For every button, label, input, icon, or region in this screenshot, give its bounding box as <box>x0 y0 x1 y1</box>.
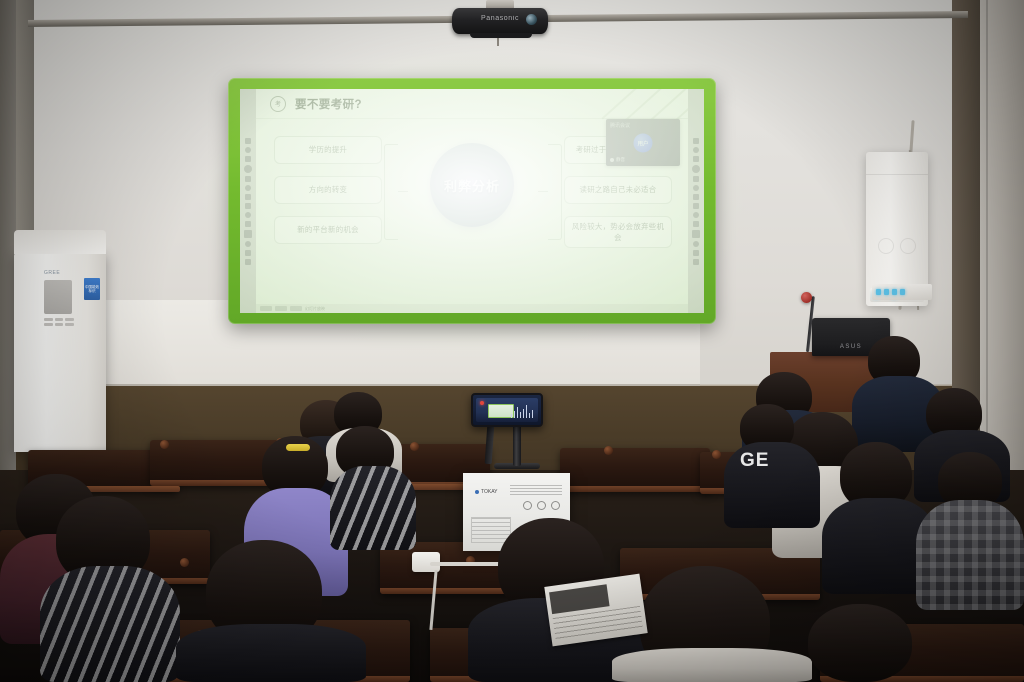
torso <box>40 566 180 682</box>
tool-icon[interactable] <box>245 138 251 144</box>
slide-title: 要不要考研? <box>295 96 362 112</box>
ac-button[interactable] <box>44 318 53 321</box>
umbrella-icon <box>537 501 546 510</box>
energy-label: 中国能效标识 <box>84 278 100 300</box>
pros-item: 学历的提升 <box>274 136 382 164</box>
tool-icon[interactable] <box>693 194 699 200</box>
ac-button[interactable] <box>44 323 53 326</box>
tool-icon[interactable] <box>245 176 251 182</box>
tool-icon[interactable] <box>693 250 699 256</box>
jacket-text: GE <box>740 450 769 472</box>
control-led-icon <box>900 289 905 295</box>
tool-icon[interactable] <box>245 147 251 153</box>
tool-icon[interactable] <box>693 203 699 209</box>
projector-lens-icon <box>526 14 537 25</box>
slide-header: 考 要不要考研? <box>256 89 688 119</box>
taskbar-label: 幻灯片放映 <box>305 306 325 312</box>
box-brand-text: TOKAY <box>481 489 498 495</box>
video-participant-name: 腾讯会议 <box>610 122 630 129</box>
right-column <box>952 0 982 440</box>
lecture-hall-photo: Panasonic <box>0 0 1024 682</box>
tool-icon[interactable] <box>245 194 251 200</box>
tool-icon[interactable] <box>245 185 251 191</box>
ac-button[interactable] <box>55 318 64 321</box>
connector-stub-right <box>538 191 548 192</box>
cons-item: 风险较大，势必会放弃些机会 <box>564 216 672 248</box>
head <box>808 604 912 682</box>
connector-bracket-left <box>384 144 398 240</box>
tool-icon[interactable] <box>693 241 699 247</box>
bench-knob <box>410 442 419 451</box>
bench-knob <box>712 450 721 459</box>
tripod-pole <box>513 424 521 466</box>
taskbar-item[interactable] <box>275 306 287 311</box>
recording-smartphone[interactable] <box>471 393 543 427</box>
box-print-text <box>510 485 562 495</box>
tool-icon[interactable] <box>693 259 699 265</box>
tool-icon[interactable] <box>693 212 699 218</box>
ac-button[interactable] <box>55 323 64 326</box>
ac-button-row[interactable] <box>44 318 74 326</box>
control-led-icon <box>884 289 889 295</box>
heater-vent-icon <box>900 238 916 254</box>
heater-seam <box>866 174 928 175</box>
taskbar-item[interactable] <box>260 306 272 311</box>
tool-icon[interactable] <box>692 230 700 238</box>
phone-screen[interactable] <box>476 398 538 422</box>
bench-knob <box>604 446 613 455</box>
torso <box>176 624 366 682</box>
right-door <box>980 0 1024 470</box>
torso <box>330 466 416 550</box>
projection-screen-frame: 考 要不要考研? 学历的提升 方向的转变 新的平台新的机会 利弊分析 考研过于辛… <box>228 78 716 324</box>
pros-item: 方向的转变 <box>274 176 382 204</box>
os-taskbar[interactable]: 幻灯片放映 <box>256 304 688 313</box>
tool-icon[interactable] <box>245 259 251 265</box>
fragile-icon <box>523 501 532 510</box>
heater-vent-icon <box>878 238 894 254</box>
bench-row <box>560 448 710 492</box>
connector-bracket-right <box>548 144 562 240</box>
pros-item: 新的平台新的机会 <box>274 216 382 244</box>
cons-item: 读研之路自己未必适合 <box>564 176 672 204</box>
tool-icon[interactable] <box>693 221 699 227</box>
torso <box>612 648 812 682</box>
box-brand-label: TOKAY <box>475 489 498 495</box>
ac-brand-label: GREE <box>44 270 60 276</box>
brand-dot-icon <box>475 490 479 494</box>
connector-stub-left <box>398 191 408 192</box>
tool-icon[interactable] <box>693 185 699 191</box>
pros-column: 学历的提升 方向的转变 新的平台新的机会 <box>274 136 382 244</box>
box-symbol-icons <box>523 501 560 510</box>
tool-icon[interactable] <box>245 203 251 209</box>
ac-button[interactable] <box>65 318 74 321</box>
wall-mounted-heater <box>866 152 928 306</box>
presentation-slide: 考 要不要考研? 学历的提升 方向的转变 新的平台新的机会 利弊分析 考研过于辛… <box>256 89 688 313</box>
tool-icon[interactable] <box>244 230 252 238</box>
ac-top-vent <box>14 230 106 254</box>
floor-air-conditioner: GREE 中国能效标识 <box>14 252 106 452</box>
hair-band <box>286 444 310 451</box>
video-status: 静音 <box>610 157 625 163</box>
projector-base <box>470 33 532 38</box>
avatar: 用户 <box>634 134 653 153</box>
projection-screen-surface[interactable]: 考 要不要考研? 学历的提升 方向的转变 新的平台新的机会 利弊分析 考研过于辛… <box>240 89 704 313</box>
ac-display-panel[interactable] <box>44 280 72 314</box>
bench-knob <box>160 440 169 449</box>
whiteboard-toolbar-right[interactable] <box>688 89 704 313</box>
tool-icon[interactable] <box>693 156 699 162</box>
microphone-icon <box>610 158 614 162</box>
wall-control-box[interactable] <box>872 284 932 300</box>
tool-icon[interactable] <box>693 138 699 144</box>
tool-icon[interactable] <box>244 165 252 173</box>
video-status-text: 静音 <box>616 157 625 163</box>
tool-icon[interactable] <box>245 156 251 162</box>
torso <box>724 442 820 528</box>
tool-icon[interactable] <box>692 165 700 173</box>
microphone-icon <box>801 292 812 303</box>
video-call-panel[interactable]: 腾讯会议 用户 静音 <box>606 119 680 166</box>
tool-icon[interactable] <box>693 147 699 153</box>
center-hub-label: 利弊分析 <box>444 176 500 195</box>
tool-icon[interactable] <box>693 176 699 182</box>
power-cable <box>430 562 500 566</box>
phone-level-meter <box>511 405 534 418</box>
bench-knob <box>180 558 189 567</box>
center-hub-circle: 利弊分析 <box>430 143 514 227</box>
taskbar-item[interactable] <box>290 306 302 311</box>
handout-image-block <box>549 584 609 614</box>
torso <box>916 500 1024 610</box>
recycle-icon <box>551 501 560 510</box>
tool-icon[interactable] <box>245 250 251 256</box>
whiteboard-toolbar-left[interactable] <box>240 89 256 313</box>
tool-icon[interactable] <box>245 212 251 218</box>
ceiling-projector: Panasonic <box>452 8 548 34</box>
ac-button[interactable] <box>65 323 74 326</box>
tool-icon[interactable] <box>245 241 251 247</box>
control-led-icon <box>892 289 897 295</box>
slide-logo-icon: 考 <box>270 96 286 112</box>
record-indicator-icon <box>480 401 484 405</box>
tool-icon[interactable] <box>245 221 251 227</box>
control-led-icon <box>876 289 881 295</box>
